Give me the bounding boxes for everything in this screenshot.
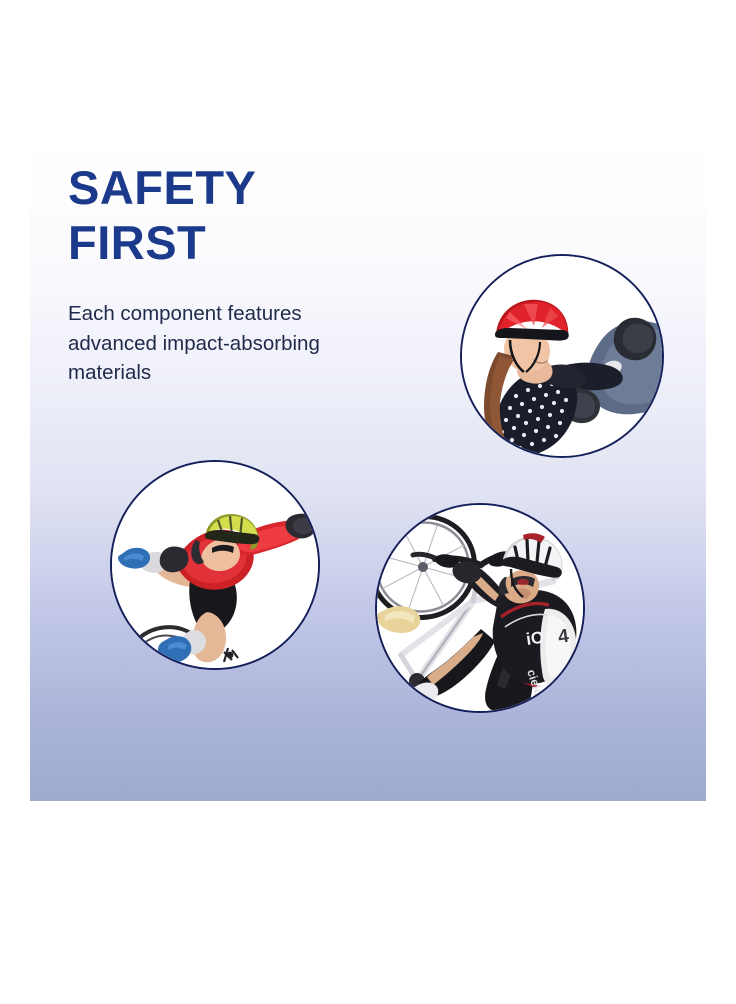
subtitle: Each component features advanced impact-… (68, 271, 428, 388)
page-title: SAFETY FIRST (68, 160, 428, 271)
safety-first-graphic: SAFETY FIRST Each component features adv… (30, 0, 706, 801)
headline-line-2: FIRST (68, 215, 428, 270)
red-jersey-rider-illustration (112, 462, 318, 668)
subtitle-line-2: advanced impact-absorbing (68, 329, 428, 359)
headline-line-1: SAFETY (68, 160, 428, 215)
photo-circle-black-kit-cyclist: iO 4 cielo (375, 503, 585, 713)
subtitle-line-3: materials (68, 358, 428, 388)
black-kit-cyclist-illustration: iO 4 cielo (377, 505, 583, 711)
helmet-girl-illustration (462, 256, 662, 456)
photo-circle-red-jersey-rider (110, 460, 320, 670)
subtitle-line-1: Each component features (68, 299, 428, 329)
text-block: SAFETY FIRST Each component features adv… (68, 160, 428, 388)
photo-circle-helmet-girl (460, 254, 664, 458)
svg-text:iO: iO (525, 628, 545, 649)
